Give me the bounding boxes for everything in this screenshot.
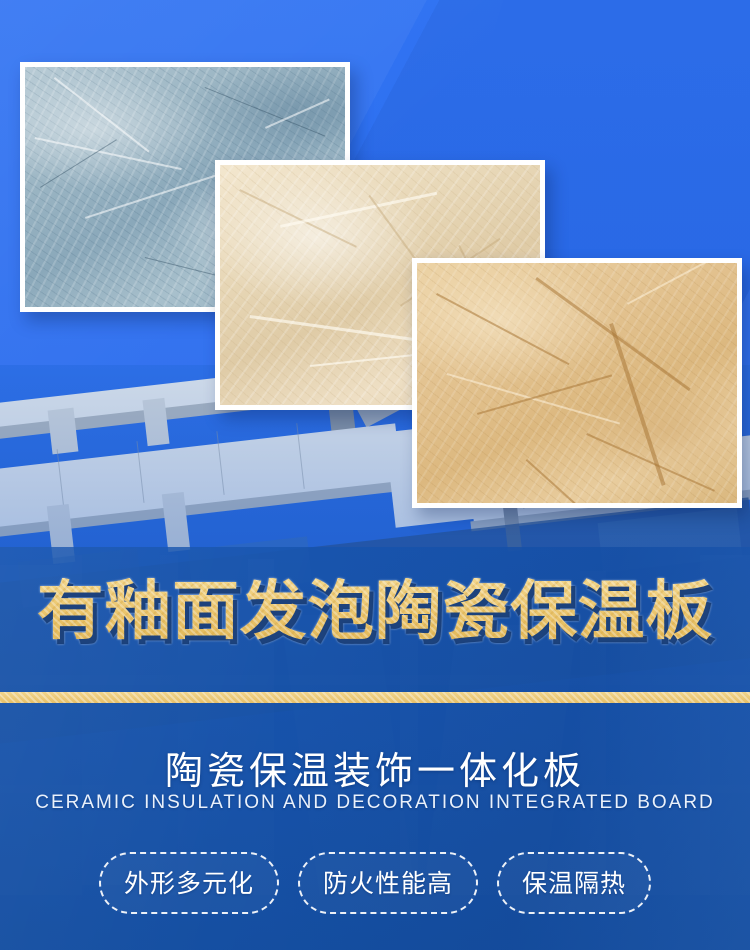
headline-title: 有釉面发泡陶瓷保温板 [37, 578, 713, 646]
headline-container: 有釉面发泡陶瓷保温板 [0, 578, 750, 646]
feature-badge-2[interactable]: 防火性能高 [298, 852, 478, 914]
subtitle-chinese: 陶瓷保温装饰一体化板 [0, 740, 750, 795]
tile-sample-3 [412, 258, 742, 508]
tan-marble-texture [417, 263, 737, 503]
feature-badge-3[interactable]: 保温隔热 [497, 852, 651, 914]
subtitle-english: CERAMIC INSULATION AND DECORATION INTEGR… [0, 792, 750, 814]
product-promo-banner: 有釉面发泡陶瓷保温板 陶瓷保温装饰一体化板 CERAMIC INSULATION… [0, 0, 750, 950]
feature-badge-list: 外形多元化 防火性能高 保温隔热 [0, 852, 750, 914]
feature-badge-1[interactable]: 外形多元化 [99, 852, 279, 914]
gold-divider [0, 692, 750, 703]
